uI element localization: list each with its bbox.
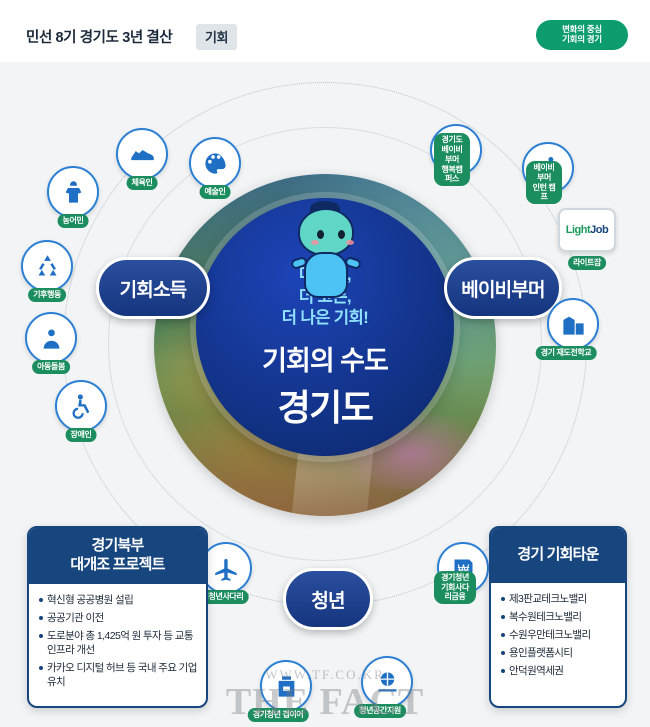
- globe-desk-icon: [361, 656, 413, 708]
- infographic-stage: 더 많은, 더 고른, 더 나은 기회! 기회의 수도 경기도 기회소득 베이비…: [0, 62, 650, 727]
- infobox-north-head-line1: 경기북부: [33, 537, 202, 556]
- list-item: 혁신형 공공병원 설립: [39, 593, 197, 607]
- brand-logo: 변화의 중심 기회의 경기: [536, 20, 628, 50]
- node-youth-gapyear-label: 경기청년 갭이어: [248, 708, 309, 722]
- child-care-icon: [25, 312, 77, 364]
- list-item: 용인플랫폼시티: [501, 646, 616, 660]
- list-item: 제3판교테크노밸리: [501, 592, 616, 606]
- infobox-north-head-line2: 대개조 프로젝트: [33, 556, 202, 575]
- core-subtitle-line3: 더 나은 기회!: [282, 308, 369, 330]
- pillar-income[interactable]: 기회소득: [96, 257, 210, 319]
- node-boomer-campus-label: 경기도 베이비부머 행복캠퍼스: [434, 133, 470, 186]
- node-climate[interactable]: 기후행동: [18, 240, 76, 298]
- core-title-line2: 경기도: [278, 379, 373, 431]
- node-childcare-label: 아동돌봄: [32, 360, 70, 374]
- infobox-north-gyeonggi-body: 혁신형 공공병원 설립 공공기관 이전 도로분야 총 1,425억 원 투자 등…: [29, 584, 206, 700]
- node-artist-label: 예술인: [200, 185, 231, 199]
- pillar-income-label: 기회소득: [120, 275, 187, 302]
- page-title: 민선 8기 경기도 3년 결산: [26, 26, 172, 47]
- school-building-icon: [547, 298, 599, 350]
- list-item: 복수원테크노밸리: [501, 610, 616, 624]
- node-childcare[interactable]: 아동돌봄: [22, 312, 80, 370]
- pillar-youth[interactable]: 청년: [283, 568, 373, 630]
- node-artist[interactable]: 예술인: [186, 137, 244, 195]
- mascot-character: [292, 208, 360, 300]
- list-item: 공공기관 이전: [39, 611, 197, 625]
- mascot-cheek-left: [311, 240, 319, 245]
- pillar-youth-label: 청년: [311, 586, 344, 613]
- node-youth-space-label: 청년공간지원: [354, 704, 406, 718]
- node-youth-finance-label: 경기청년 기회사다리금융: [434, 571, 476, 604]
- infobox-opportunity-town-body: 제3판교테크노밸리 복수원테크노밸리 수원우만테크노밸리 용인플랫폼시티 안덕원…: [491, 583, 625, 689]
- mascot-body: [304, 252, 348, 298]
- list-item: 안덕원역세권: [501, 664, 616, 678]
- node-boomer-campus[interactable]: 경기도 베이비부머 행복캠퍼스: [416, 124, 488, 182]
- farmer-icon: [47, 166, 99, 218]
- core-title-line1: 기회의 수도: [262, 339, 388, 378]
- node-farmer[interactable]: 농어민: [44, 166, 102, 224]
- infobox-north-gyeonggi[interactable]: 경기북부 대개조 프로젝트 혁신형 공공병원 설립 공공기관 이전 도로분야 총…: [27, 526, 208, 708]
- node-farmer-label: 농어민: [58, 214, 89, 228]
- node-lightjob[interactable]: LightJob 라이트잡: [556, 208, 618, 266]
- page-header: 민선 8기 경기도 3년 결산 기회 변화의 중심 기회의 경기: [0, 0, 650, 62]
- node-disabled[interactable]: 장애인: [52, 380, 110, 438]
- lightjob-logo: LightJob: [558, 208, 616, 252]
- node-climate-label: 기후행동: [28, 288, 66, 302]
- node-boomer-intern-label: 베이비부머 인턴 캠프: [526, 161, 562, 204]
- wheelchair-icon: [55, 380, 107, 432]
- mascot-head: [298, 208, 354, 256]
- backpack-icon: [260, 660, 312, 712]
- infobox-opportunity-town[interactable]: 경기 기회타운 제3판교테크노밸리 복수원테크노밸리 수원우만테크노밸리 용인플…: [489, 526, 627, 708]
- infobox-town-head-line1: 경기 기회타운: [495, 546, 621, 565]
- node-youth-finance[interactable]: ₩ 경기청년 기회사다리금융: [413, 542, 497, 600]
- mascot-eye-left: [317, 230, 324, 239]
- node-retry-school-label: 경기 재도전학교: [536, 346, 597, 360]
- infobox-north-gyeonggi-header: 경기북부 대개조 프로젝트: [29, 528, 206, 584]
- list-item: 수원우만테크노밸리: [501, 628, 616, 642]
- brand-logo-line2: 기회의 경기: [562, 35, 602, 45]
- header-badge: 기회: [196, 24, 237, 50]
- mascot-cheek-right: [346, 240, 354, 245]
- palette-icon: [189, 137, 241, 189]
- recycle-icon: [21, 240, 73, 292]
- node-lightjob-label: 라이트잡: [568, 256, 606, 270]
- node-youth-space[interactable]: 청년공간지원: [340, 656, 420, 714]
- node-boomer-intern[interactable]: 베이비부머 인턴 캠프: [508, 142, 580, 200]
- node-disabled-label: 장애인: [66, 428, 97, 442]
- mascot-eye-right: [338, 230, 345, 239]
- node-youth-gapyear[interactable]: 경기청년 갭이어: [236, 660, 320, 718]
- node-athlete[interactable]: 체육인: [113, 128, 171, 186]
- node-retry-school[interactable]: 경기 재도전학교: [525, 298, 607, 356]
- list-item: 도로분야 총 1,425억 원 투자 등 교통 인프라 개선: [39, 629, 197, 657]
- node-athlete-label: 체육인: [127, 176, 158, 190]
- infobox-opportunity-town-header: 경기 기회타운: [491, 528, 625, 583]
- lightjob-text: LightJob: [566, 224, 608, 236]
- list-item: 카카오 디지털 허브 등 국내 주요 기업 유치: [39, 661, 197, 689]
- sneaker-icon: [116, 128, 168, 180]
